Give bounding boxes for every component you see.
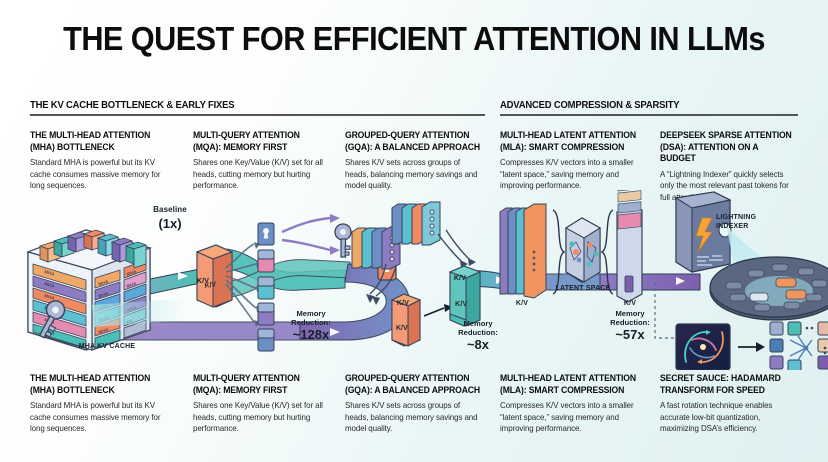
hadamard-token-grid	[770, 322, 828, 370]
label-baseline-value: (1x)	[132, 217, 208, 232]
infographic-canvas: THE QUEST FOR EFFICIENT ATTENTION IN LLM…	[0, 0, 828, 462]
label-lightning-indexer-line2: INDEXER	[716, 223, 788, 231]
bottom-block-mha-body: Standard MHA is powerful but its KV cach…	[30, 400, 173, 435]
bottom-block-mqa-heading: MULTI-QUERY ATTENTION (MQA): MEMORY FIRS…	[193, 373, 329, 396]
bottom-block-mqa: MULTI-QUERY ATTENTION (MQA): MEMORY FIRS…	[193, 373, 338, 435]
label-lightning-indexer-line1: LIGHTNING	[716, 214, 788, 222]
mla-memory-reduction: Memory Reduction: ~57x	[592, 310, 668, 343]
label-latent-space: LATENT SPACE	[543, 285, 623, 293]
bottom-block-mha-heading: THE MULTI-HEAD ATTENTION (MHA) BOTTLENEC…	[30, 373, 171, 396]
top-block-dsa-heading: DEEPSEEK SPARSE ATTENTION (DSA): ATTENTI…	[660, 130, 793, 165]
top-block-mha: THE MULTI-HEAD ATTENTION (MHA) BOTTLENEC…	[30, 130, 182, 192]
gqa-memory-reduction: Memory Reduction: ~8x	[440, 320, 516, 353]
mla-kv-input-slab	[500, 204, 546, 298]
dsa-token-disc	[710, 257, 828, 320]
top-block-gqa-heading: GROUPED-QUERY ATTENTION (GQA): A BALANCE…	[345, 130, 482, 153]
top-block-gqa-body: Shares K/V sets across groups of heads, …	[345, 157, 484, 192]
gqa-memory-reduction-line2: Reduction:	[440, 329, 516, 338]
top-block-gqa: GROUPED-QUERY ATTENTION (GQA): A BALANCE…	[345, 130, 491, 192]
section-header-advanced: ADVANCED COMPRESSION & SPARSITY	[500, 99, 679, 111]
dsa-lightning-indexer-screen	[676, 192, 731, 272]
bottom-block-gqa: GROUPED-QUERY ATTENTION (GQA): A BALANCE…	[345, 373, 491, 435]
bottom-block-mha: THE MULTI-HEAD ATTENTION (MHA) BOTTLENEC…	[30, 373, 180, 435]
top-block-mqa-body: Shares one Key/Value (K/V) set for all h…	[193, 157, 331, 192]
top-block-mqa-heading: MULTI-QUERY ATTENTION (MQA): MEMORY FIRS…	[193, 130, 329, 153]
label-mha-kv-cache: MHA KV CACHE	[52, 343, 162, 351]
bottom-block-mqa-body: Shares one Key/Value (K/V) set for all h…	[193, 400, 331, 435]
label-mla-kv-out: K/V	[608, 300, 652, 308]
mla-latent-space-cube	[566, 218, 600, 282]
label-mqa-kv: K/V	[182, 278, 224, 286]
bottom-block-gqa-heading: GROUPED-QUERY ATTENTION (GQA): A BALANCE…	[345, 373, 482, 396]
bottom-block-gqa-body: Shares K/V sets across groups of heads, …	[345, 400, 484, 435]
top-block-mla-body: Compresses K/V vectors into a smaller “l…	[500, 157, 641, 192]
gqa-memory-reduction-value: ~8x	[440, 338, 516, 353]
label-gqa-kv-b: K/V	[442, 275, 478, 283]
bottom-block-secret-sauce: SECRET SAUCE: HADAMARD TRANSFORM FOR SPE…	[660, 373, 800, 435]
label-mla-kv-in: K/V	[500, 300, 544, 308]
gqa-transfer-arrow	[424, 304, 453, 316]
mqa-memory-reduction-value: ~128x	[272, 328, 350, 343]
mla-memory-reduction-line2: Reduction:	[592, 319, 668, 328]
section-header-kv-bottleneck: THE KV CACHE BOTTLENECK & EARLY FIXES	[30, 99, 234, 111]
mqa-key-icon-upper	[335, 224, 351, 257]
top-block-mla-heading: MULTI-HEAD LATENT ATTENTION (MLA): SMART…	[500, 130, 639, 153]
svg-text:K/V: K/V	[396, 325, 408, 332]
hadamard-galaxy-tile	[676, 324, 730, 370]
mqa-purple-arrows	[282, 218, 330, 250]
bottom-block-mla-body: Compresses K/V vectors into a smaller “l…	[500, 400, 644, 435]
bottom-block-mla-heading: MULTI-HEAD LATENT ATTENTION (MLA): SMART…	[500, 373, 643, 396]
bottom-block-mla: MULTI-HEAD LATENT ATTENTION (MLA): SMART…	[500, 373, 652, 435]
bottom-block-secret-sauce-body: A fast rotation technique enables accura…	[660, 400, 793, 435]
top-block-mla: MULTI-HEAD LATENT ATTENTION (MLA): SMART…	[500, 130, 648, 192]
bottom-block-secret-sauce-heading: SECRET SAUCE: HADAMARD TRANSFORM FOR SPE…	[660, 373, 792, 396]
gqa-head-groups	[352, 202, 440, 269]
top-block-mha-heading: THE MULTI-HEAD ATTENTION (MHA) BOTTLENEC…	[30, 130, 173, 153]
page-title: THE QUEST FOR EFFICIENT ATTENTION IN LLM…	[29, 20, 799, 58]
label-baseline: Baseline	[132, 205, 208, 214]
top-block-mqa: MULTI-QUERY ATTENTION (MQA): MEMORY FIRS…	[193, 130, 338, 192]
mla-memory-reduction-value: ~57x	[592, 328, 668, 343]
section-rule-right	[500, 114, 798, 116]
mqa-memory-reduction-line2: Reduction:	[272, 319, 350, 328]
section-rule-left	[30, 114, 485, 116]
mqa-memory-reduction: Memory Reduction: ~128x	[272, 310, 350, 343]
top-block-mha-body: Standard MHA is powerful but its KV cach…	[30, 157, 174, 192]
label-gqa-kv-a: K/V	[385, 300, 421, 308]
hadamard-transform-arrow	[738, 342, 765, 352]
svg-text:K/V: K/V	[455, 299, 468, 308]
